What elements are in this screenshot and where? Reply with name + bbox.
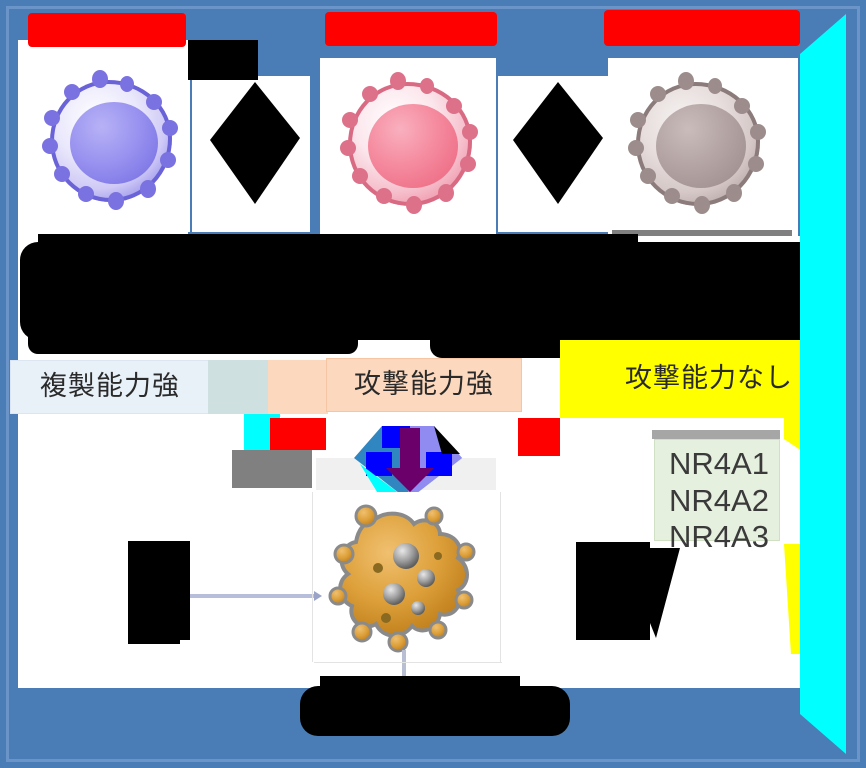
lymphocyte-pink-spike [376,188,392,204]
macrophage-cell-icon [322,500,482,660]
lymphocyte-pink-spike [390,72,406,90]
lymphocyte-blue-spike [120,76,134,92]
block-red-left [270,418,326,450]
lymphocyte-blue-spike [140,180,156,198]
lymphocyte-pink-spike [420,78,434,94]
lymphocyte-blue-spike [162,120,178,136]
lymphocyte-blue-spike [54,166,70,182]
redacted-caption-bottom-2 [320,676,520,698]
lymphocyte-pink-spike [462,124,478,140]
lymphocyte-pink-spike [438,184,454,202]
lymphocyte-blue-spike [42,138,58,154]
lymphocyte-blue-image [36,68,186,228]
diamond-1-icon [200,78,310,208]
lymphocyte-gray-spike [708,78,722,94]
label-attack-strong-text: 攻撃能力強 [354,370,494,400]
lymphocyte-blue-spike [146,94,162,110]
lymphocyte-gray-spike [750,124,766,140]
lymphocyte-gray-spike [640,168,656,184]
label-replication-text: 複製能力強 [40,372,180,402]
label-attack-none-text-overlay: 攻撃能力なし [578,340,840,418]
lymphocyte-pink-spike [460,156,476,172]
rule-horizontal-lower [314,662,502,663]
redacted-block-bottom-left-corner [128,622,180,644]
connector-arrow-head-icon [314,591,322,601]
lymphocyte-gray-spike [678,72,694,90]
lymphocyte-gray-spike [748,156,764,172]
lymphocyte-gray-spike [650,86,666,102]
nr4a-gene-box: NR4A1 NR4A2 NR4A3 [654,439,780,541]
nr4a-box-header-bar [652,430,780,439]
lymphocyte-gray-spike [664,188,680,204]
lymphocyte-gray-nucleus [656,104,746,188]
label-attack-none-text-dup: 攻撃能力なし [625,364,793,394]
lymphocyte-pink-spike [446,98,462,114]
lymphocyte-pink-spike [352,168,368,184]
lymphocyte-pink-nucleus [368,104,458,188]
lymphocyte-blue-spike [160,152,176,168]
down-arrow-icon [382,428,438,494]
lymphocyte-pink-spike [342,112,358,128]
label-replication-capability: 複製能力強 [10,360,210,414]
redacted-paragraph-tail-2 [28,318,358,354]
block-red-right [518,418,560,456]
lymphocyte-gray-image [622,70,774,228]
header-3-redaction [604,10,800,46]
lymphocyte-pink-spike [406,196,422,214]
lymphocyte-blue-spike [78,186,94,202]
diamond-2-icon [503,78,613,208]
rule-vertical-left [312,492,313,662]
gene-name-nr4a1: NR4A1 [669,446,765,483]
lymphocyte-blue-spike [64,84,80,100]
label-attack-strong-capability: 攻撃能力強 [326,358,522,412]
header-1-redaction [28,13,186,47]
peach-swatch [268,360,328,414]
lymphocyte-gray-spike [630,112,646,128]
gene-name-nr4a2: NR4A2 [669,483,765,520]
header-2-redaction [325,12,497,46]
lymphocyte-blue-spike [44,110,60,126]
lymphocyte-blue-spike [92,70,108,88]
lymphocyte-pink-image [334,70,486,228]
lymphocyte-pink-spike [362,86,378,102]
teal-swatch [208,360,270,414]
slide-root: 複製能力強 攻撃能力強 攻撃能力なし 攻撃能力なし [0,0,866,768]
lymphocyte-pink-spike [340,140,356,156]
connector-arrow-line [190,594,316,598]
redacted-wedge-bottom-right [620,548,692,640]
redacted-paragraph-band-2 [38,234,638,258]
lymphocyte-gray-spike [734,98,750,114]
lymphocyte-blue-spike [108,192,124,210]
block-gray-left [232,450,312,488]
rule-vertical-right [500,492,501,662]
lymphocyte-gray-spike [726,184,742,202]
redacted-text-block [188,40,258,80]
lymphocyte-gray-spike [628,140,644,156]
lymphocyte-blue-nucleus [70,102,158,184]
lymphocyte-gray-spike [694,196,710,214]
